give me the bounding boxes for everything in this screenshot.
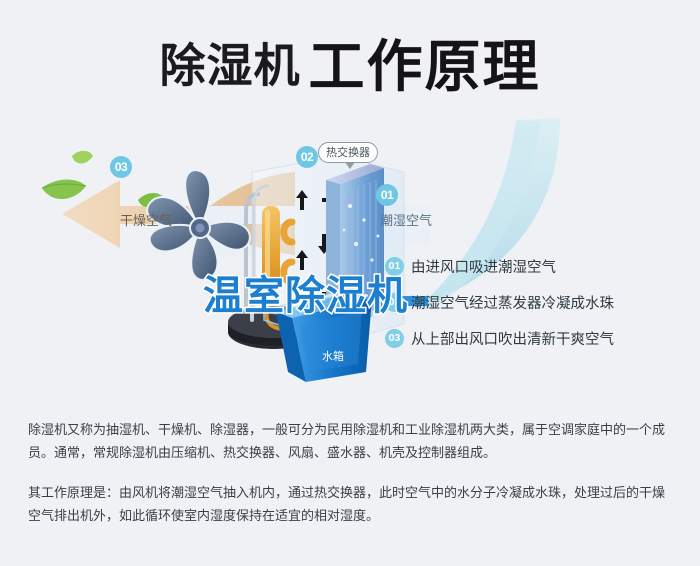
badge-03: 03: [110, 156, 132, 178]
paragraph-2: 其工作原理是：由风机将潮湿空气抽入机内，通过热交换器，此时空气中的水分子冷凝成水…: [28, 481, 676, 527]
label-dry-air: 干燥空气: [120, 210, 172, 229]
badge-01: 01: [376, 184, 398, 206]
badge-02: 02: [296, 146, 318, 168]
title-part-one: 除湿机: [160, 40, 301, 92]
step-text: 从上部出风口吹出清新干爽空气: [411, 328, 614, 349]
paragraph-1: 除湿机又称为抽湿机、干燥机、除湿器，一般可分为民用除湿机和工业除湿机两大类，属于…: [28, 418, 676, 464]
label-humid-air: 潮湿空气: [380, 210, 432, 229]
label-water-tank: 水箱: [322, 348, 344, 364]
page-title: 除湿机工作原理: [0, 22, 700, 103]
watermark-overlay: 温室除湿机: [0, 263, 700, 321]
body-text: 除湿机又称为抽湿机、干燥机、除湿器，一般可分为民用除湿机和工业除湿机两大类，属于…: [28, 418, 676, 527]
step-number: 03: [385, 329, 404, 348]
title-part-two: 工作原理: [309, 35, 541, 98]
list-item: 03 从上部出风口吹出清新干爽空气: [385, 320, 685, 356]
heat-exchanger-tooltip: 热交换器: [318, 142, 378, 163]
